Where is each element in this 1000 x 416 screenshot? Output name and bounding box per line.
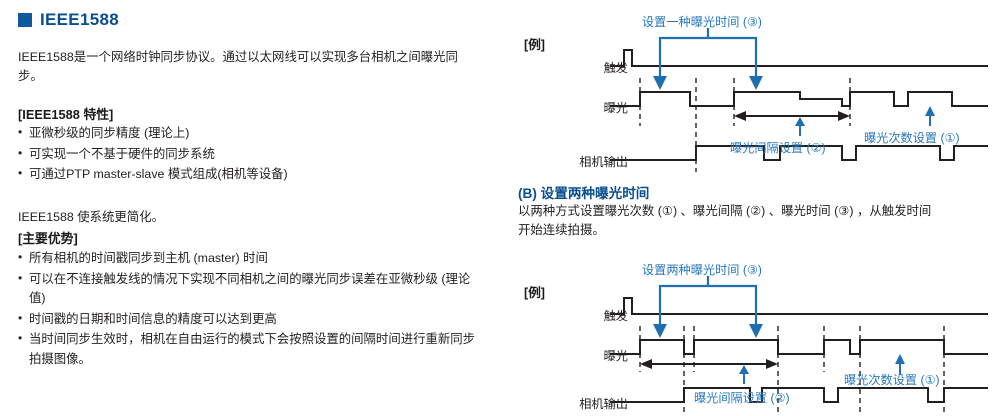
left-column: IEEE1588 IEEE1588是一个网络时钟同步协议。通过以太网线可以实现多… bbox=[0, 0, 500, 416]
row-label-camera-output: 相机输出 bbox=[538, 394, 628, 412]
bracket-callout-exposure-time bbox=[660, 28, 756, 76]
section-b-line1: 以两种方式设置曝光次数 (①) 、曝光间隔 (②) 、曝光时间 (③) ，从触发… bbox=[518, 202, 1000, 221]
list-item-text: 可通过PTP master-slave 模式组成(相机等设备) bbox=[29, 165, 486, 185]
section-b-line2: 开始连续拍摄。 bbox=[518, 221, 1000, 240]
list-item-text: 当时间同步生效时，相机在自由运行的模式下会按照设置的间隔时间进行重新同步拍摄图像… bbox=[29, 330, 486, 369]
bracket-callout-arrowheads bbox=[653, 76, 763, 90]
callout-exposure-interval: 曝光间隔设置 (②) bbox=[694, 388, 790, 406]
interval-label-arrow bbox=[739, 365, 749, 384]
square-bullet-icon bbox=[18, 13, 32, 27]
list-item: 可实现一个不基于硬件的同步系统 bbox=[18, 145, 486, 165]
list-item-text: 时间戳的日期和时间信息的精度可以达到更高 bbox=[29, 310, 486, 330]
list-item-text: 可以在不连接触发线的情况下实现不同相机之间的曝光同步误差在亚微秒级 (理论值) bbox=[29, 270, 486, 309]
list-item: 所有相机的时间戳同步到主机 (master) 时间 bbox=[18, 249, 486, 269]
features-list: 亚微秒级的同步精度 (理论上) 可实现一个不基于硬件的同步系统 可通过PTP m… bbox=[18, 124, 486, 186]
benefits-heading: [主要优势] bbox=[18, 228, 78, 247]
list-item-text: 可实现一个不基于硬件的同步系统 bbox=[29, 145, 486, 165]
section-b-body: 以两种方式设置曝光次数 (①) 、曝光间隔 (②) 、曝光时间 (③) ，从触发… bbox=[518, 202, 1000, 239]
features-heading: [IEEE1588 特性] bbox=[18, 104, 113, 123]
waveform-exposure bbox=[610, 340, 988, 354]
row-label-trigger: 触发 bbox=[552, 306, 628, 324]
row-label-trigger: 触发 bbox=[552, 58, 628, 76]
page-root: IEEE1588 IEEE1588是一个网络时钟同步协议。通过以太网线可以实现多… bbox=[0, 0, 1000, 416]
callout-exposure-time: 设置一种曝光时间 (③) bbox=[642, 12, 762, 30]
callout-exposure-time: 设置两种曝光时间 (③) bbox=[642, 260, 762, 278]
list-item-text: 亚微秒级的同步精度 (理论上) bbox=[29, 124, 486, 144]
callout-exposure-count: 曝光次数设置 (①) bbox=[844, 370, 940, 388]
example-label: [例] bbox=[524, 34, 545, 53]
timing-diagram-one-exposure: [例] 触发 曝光 相机输出 设置一种曝光时间 (③) 曝光间隔设置 (②) 曝… bbox=[512, 14, 1000, 174]
intro-paragraph: IEEE1588是一个网络时钟同步协议。通过以太网线可以实现多台相机之间曝光同步… bbox=[18, 48, 482, 86]
callout-exposure-interval: 曝光间隔设置 (②) bbox=[730, 138, 826, 156]
section-title-text: IEEE1588 bbox=[40, 10, 119, 30]
waveform-trigger bbox=[610, 298, 988, 314]
list-item: 可以在不连接触发线的情况下实现不同相机之间的曝光同步误差在亚微秒级 (理论值) bbox=[18, 270, 486, 309]
count-label-arrow bbox=[925, 106, 935, 126]
waveform-exposure bbox=[610, 92, 988, 106]
waveform-trigger bbox=[610, 50, 988, 66]
row-label-exposure: 曝光 bbox=[552, 346, 628, 364]
list-item: 当时间同步生效时，相机在自由运行的模式下会按照设置的间隔时间进行重新同步拍摄图像… bbox=[18, 330, 486, 369]
list-item: 可通过PTP master-slave 模式组成(相机等设备) bbox=[18, 165, 486, 185]
bracket-callout-exposure-time bbox=[660, 276, 756, 324]
section-heading: IEEE1588 bbox=[18, 10, 119, 30]
benefits-list: 所有相机的时间戳同步到主机 (master) 时间 可以在不连接触发线的情况下实… bbox=[18, 249, 486, 370]
interval-label-arrow bbox=[795, 117, 805, 136]
simplify-line: IEEE1588 使系统更简化。 bbox=[18, 208, 482, 227]
list-item-text: 所有相机的时间戳同步到主机 (master) 时间 bbox=[29, 249, 486, 269]
list-item: 亚微秒级的同步精度 (理论上) bbox=[18, 124, 486, 144]
row-label-exposure: 曝光 bbox=[552, 98, 628, 116]
list-item: 时间戳的日期和时间信息的精度可以达到更高 bbox=[18, 310, 486, 330]
section-b-heading: (B) 设置两种曝光时间 bbox=[518, 182, 1000, 202]
bracket-callout-arrowheads bbox=[653, 324, 763, 338]
timing-diagram-two-exposures: [例] 触发 曝光 相机输出 设置两种曝光时间 (③) 曝光间隔设置 (②) 曝… bbox=[512, 262, 1000, 416]
example-label: [例] bbox=[524, 282, 545, 301]
right-column: [例] 触发 曝光 相机输出 设置一种曝光时间 (③) 曝光间隔设置 (②) 曝… bbox=[512, 0, 1000, 416]
row-label-camera-output: 相机输出 bbox=[538, 152, 628, 170]
callout-exposure-count: 曝光次数设置 (①) bbox=[864, 128, 960, 146]
waveform-camera-output bbox=[610, 388, 988, 402]
